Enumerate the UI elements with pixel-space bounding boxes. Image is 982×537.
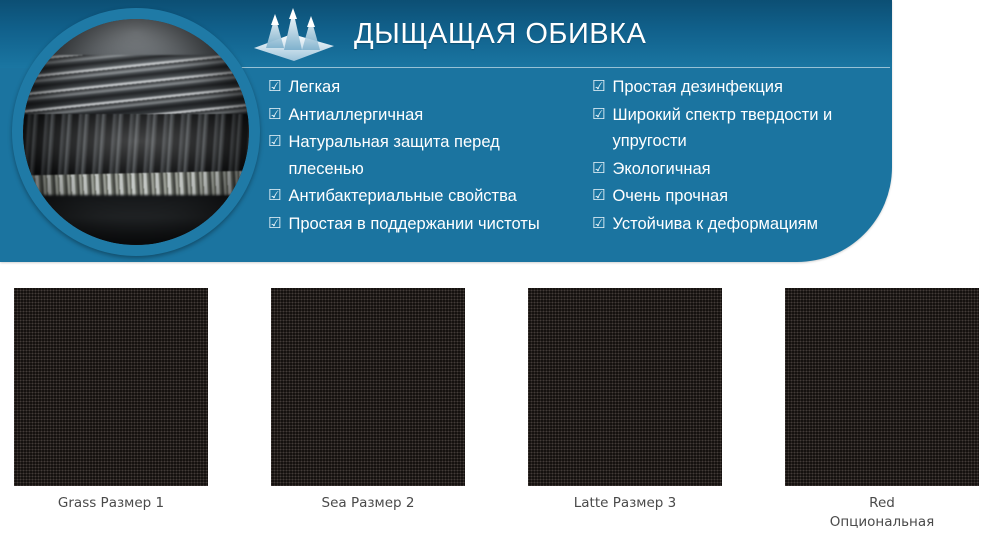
checkbox-icon: ☑ [592,102,605,129]
feature-label: Широкий спектр твердости и упругости [612,102,888,155]
swatch-label-line: Red [785,494,979,513]
feature-label: Простая дезинфекция [612,74,782,101]
checkbox-icon: ☑ [592,74,605,101]
checkbox-icon: ☑ [268,211,281,238]
feature-column-right: ☑ Простая дезинфекция ☑ Широкий спектр т… [592,74,888,254]
checkbox-icon: ☑ [592,183,605,210]
checkbox-icon: ☑ [268,183,281,210]
swatch-label-line: Grass Размер 1 [14,494,208,513]
swatch-latte[interactable] [528,288,722,486]
feature-label: Устойчива к деформациям [612,211,818,238]
breathability-arrows-icon [244,4,340,64]
feature-item: ☑ Экологичная [592,156,888,183]
feature-label: Экологичная [612,156,710,183]
checkbox-icon: ☑ [592,211,605,238]
feature-item: ☑ Устойчива к деформациям [592,211,888,238]
photo-layer-vignette [23,19,249,245]
color-swatch-row: Grass Размер 1 Sea Размер 2 Latte Размер… [0,288,982,488]
swatch-label-red: Red Опциональная [785,494,979,532]
checkbox-icon: ☑ [592,156,605,183]
feature-item: ☑ Легкая [268,74,564,101]
feature-item: ☑ Простая дезинфекция [592,74,888,101]
swatch-grass[interactable] [14,288,208,486]
feature-lists: ☑ Легкая ☑ Антиаллергичная ☑ Натуральная… [268,74,872,254]
feature-label: Легкая [288,74,340,101]
checkbox-icon: ☑ [268,129,281,156]
panel-header-content: ДЫЩАЩАЯ ОБИВКА [240,0,892,68]
swatch-red[interactable] [785,288,979,486]
breathable-upholstery-panel: ДЫЩАЩАЯ ОБИВКА ☑ Легкая ☑ Антиаллергична… [0,0,892,262]
fabric-macro-photo [12,8,260,256]
feature-item: ☑ Натуральная защита перед плесенью [268,129,564,182]
feature-label: Простая в поддержании чистоты [288,211,539,238]
fabric-macro-photo-inner [23,19,249,245]
swatch-label-sea: Sea Размер 2 [271,494,465,513]
feature-item: ☑ Простая в поддержании чистоты [268,211,564,238]
swatch-label-line: Sea Размер 2 [271,494,465,513]
swatch-label-latte: Latte Размер 3 [528,494,722,513]
feature-column-left: ☑ Легкая ☑ Антиаллергичная ☑ Натуральная… [268,74,564,254]
feature-label: Натуральная защита перед плесенью [288,129,564,182]
checkbox-icon: ☑ [268,102,281,129]
feature-label: Антибактериальные свойства [288,183,516,210]
swatch-label-line: Опциональная [785,513,979,532]
feature-item: ☑ Антибактериальные свойства [268,183,564,210]
feature-item: ☑ Очень прочная [592,183,888,210]
checkbox-icon: ☑ [268,74,281,101]
swatch-sea[interactable] [271,288,465,486]
feature-item: ☑ Широкий спектр твердости и упругости [592,102,888,155]
feature-label: Очень прочная [612,183,728,210]
feature-item: ☑ Антиаллергичная [268,102,564,129]
swatch-label-line: Latte Размер 3 [528,494,722,513]
swatch-label-grass: Grass Размер 1 [14,494,208,513]
page-title: ДЫЩАЩАЯ ОБИВКА [354,18,646,51]
feature-label: Антиаллергичная [288,102,423,129]
